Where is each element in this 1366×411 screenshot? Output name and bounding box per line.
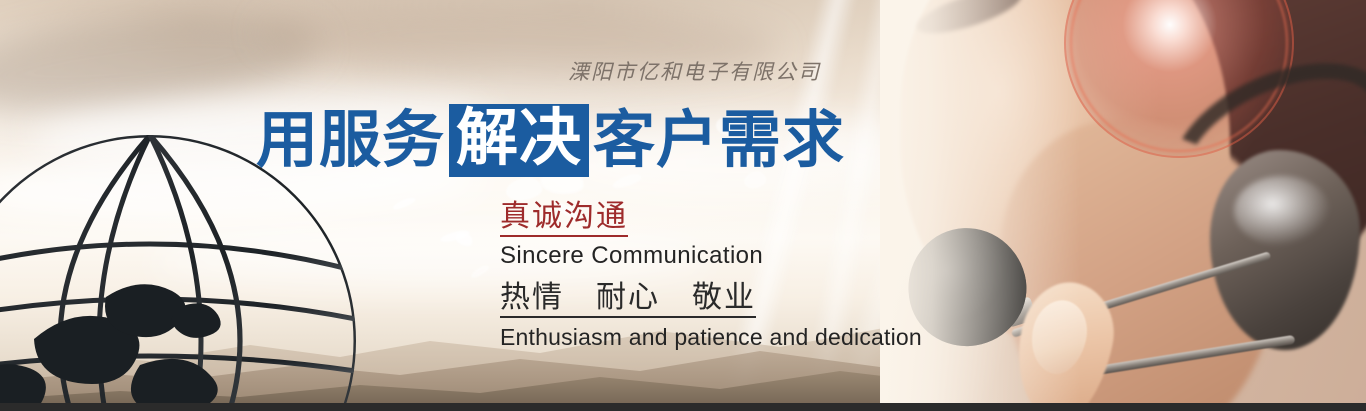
slogan-en-primary: Sincere Communication bbox=[500, 240, 922, 272]
bottom-bar bbox=[0, 403, 1366, 411]
company-name: 溧阳市亿和电子有限公司 bbox=[568, 56, 821, 86]
slogan-cn-secondary-text: 热情 耐心 敬业 bbox=[500, 281, 756, 318]
headline: 用服务 解决 客户需求 bbox=[256, 104, 845, 177]
headline-after: 客户需求 bbox=[593, 110, 845, 172]
slogan-cn-secondary: 热情 耐心 敬业 bbox=[500, 272, 922, 318]
slogan-cn-primary-text: 真诚沟通 bbox=[500, 200, 628, 237]
slogan-cn-primary: 真诚沟通 bbox=[500, 200, 922, 237]
slogan-en-secondary: Enthusiasm and patience and dedication bbox=[500, 322, 922, 353]
headset-operator-photo bbox=[880, 0, 1366, 411]
headline-highlight: 解决 bbox=[449, 104, 589, 177]
earpiece-highlight bbox=[1234, 176, 1330, 246]
slogan-block: 真诚沟通 Sincere Communication 热情 耐心 敬业 Enth… bbox=[500, 200, 922, 353]
headline-before: 用服务 bbox=[256, 110, 445, 172]
promo-banner: 溧阳市亿和电子有限公司 用服务 解决 客户需求 真诚沟通 Sincere Com… bbox=[0, 0, 1366, 411]
